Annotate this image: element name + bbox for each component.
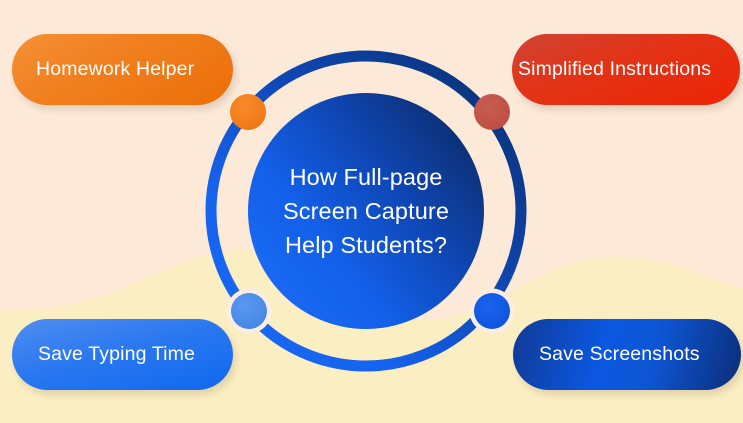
node-label-simplified-instructions[interactable]: Simplified Instructions <box>512 34 740 105</box>
node-label-homework-helper[interactable]: Homework Helper <box>12 34 233 105</box>
node-dot-simplified-instructions[interactable] <box>474 94 510 130</box>
infographic-canvas: How Full-page Screen Capture Help Studen… <box>0 0 743 423</box>
node-label-save-screenshots[interactable]: Save Screenshots <box>513 319 741 390</box>
node-label-text: Homework Helper <box>36 58 194 81</box>
node-label-text: Save Screenshots <box>539 343 700 366</box>
node-dot-homework-helper[interactable] <box>230 94 266 130</box>
node-label-text: Simplified Instructions <box>518 58 711 81</box>
core-circle <box>248 93 484 329</box>
node-dot-save-screenshots[interactable] <box>474 293 510 329</box>
node-label-save-typing-time[interactable]: Save Typing Time <box>12 319 233 390</box>
node-label-text: Save Typing Time <box>38 343 195 366</box>
node-dot-save-typing-time[interactable] <box>231 293 267 329</box>
